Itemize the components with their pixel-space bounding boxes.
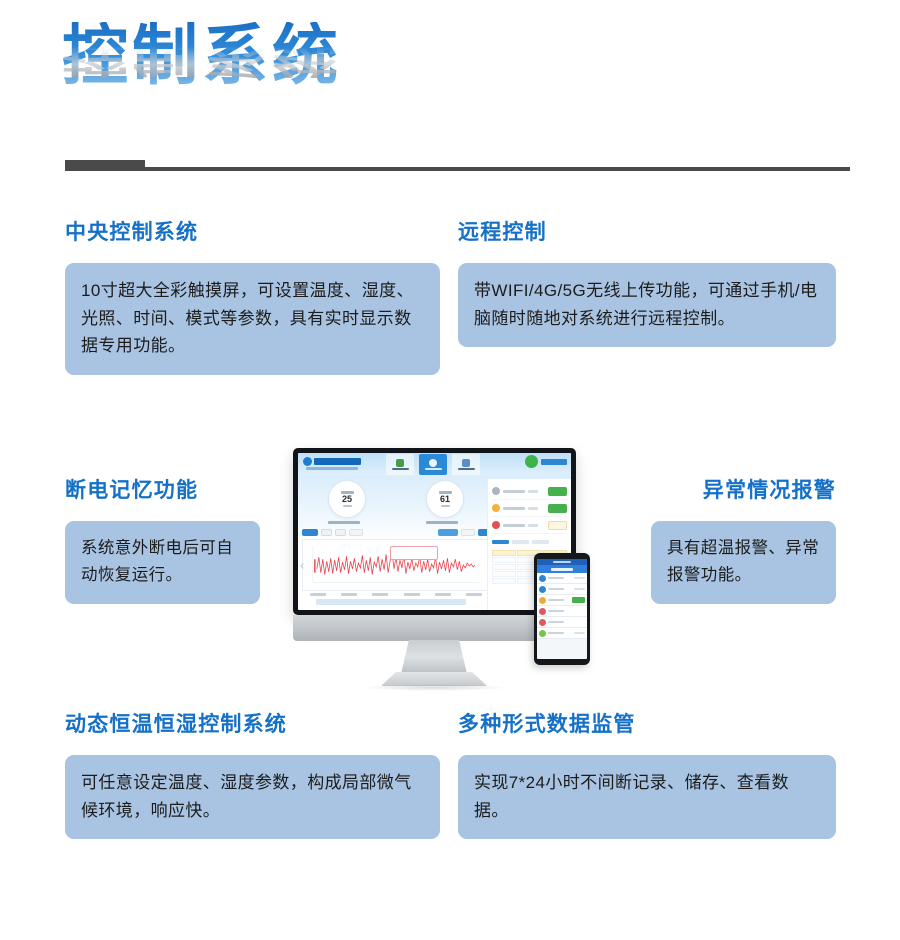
feature-description-box: 具有超温报警、异常报警功能。 (651, 521, 836, 603)
gauge-humidity: 61 (426, 480, 464, 524)
table-cell (492, 571, 516, 577)
feature-power-failure-memory: 断电记忆功能 系统意外断电后可自动恢复运行。 (65, 478, 260, 604)
chart-export-button[interactable] (438, 529, 458, 536)
gauge-value: 61 (440, 495, 450, 504)
gauge-caption (328, 521, 360, 524)
axis-tick-label (310, 593, 326, 596)
dashboard-header (298, 453, 571, 476)
panel-tab-item[interactable] (512, 540, 529, 544)
page-title-reflection: 控制系统 (62, 44, 482, 78)
control-label (503, 524, 525, 527)
chart-x-axis (302, 593, 490, 596)
control-value (528, 490, 538, 493)
feature-heading: 远程控制 (458, 220, 836, 245)
dashboard-user-area[interactable] (525, 455, 567, 468)
cloud-icon (462, 459, 470, 467)
feature-abnormal-alarm: 异常情况报警 具有超温报警、异常报警功能。 (651, 478, 836, 604)
alarm-icon (539, 619, 546, 626)
chart-date-to-input[interactable] (335, 529, 346, 536)
list-item[interactable] (537, 617, 587, 628)
control-label (503, 490, 525, 493)
monitor-screen: 25 61 (298, 453, 571, 610)
feature-heading: 动态恒温恒湿控制系统 (65, 712, 440, 737)
chart-query-button[interactable] (349, 529, 363, 536)
nav-tab-label (458, 468, 475, 471)
nav-tab-item[interactable] (452, 454, 480, 475)
list-item-label (548, 588, 564, 591)
feature-heading: 中央控制系统 (65, 220, 440, 245)
feature-heading: 断电记忆功能 (65, 478, 260, 503)
dashboard-nav-tabs[interactable] (386, 454, 480, 475)
chart-prev-icon[interactable]: ‹ (300, 559, 304, 572)
gauge-dial: 25 (328, 480, 366, 518)
panel-tab-item-active[interactable] (492, 540, 509, 544)
list-item[interactable] (537, 628, 587, 639)
smartphone (534, 553, 590, 665)
feature-remote-control: 远程控制 带WIFI/4G/5G无线上传功能，可通过手机/电脑随时随地对系统进行… (458, 220, 836, 347)
list-item[interactable] (537, 595, 587, 606)
feature-central-control-system: 中央控制系统 10寸超大全彩触摸屏，可设置温度、湿度、光照、时间、模式等参数，具… (65, 220, 440, 375)
nav-tab-item[interactable] (386, 454, 414, 475)
status-bar-text (553, 561, 571, 563)
gauge-unit (441, 505, 450, 507)
gauge-temperature: 25 (328, 480, 366, 524)
axis-tick-label (372, 593, 388, 596)
nav-tab-label (392, 468, 409, 471)
chart-range-button[interactable] (302, 529, 318, 536)
dashboard-logo (303, 457, 361, 466)
list-item[interactable] (537, 606, 587, 617)
divider-accent-block (65, 160, 145, 171)
list-item-toggle-button[interactable] (572, 597, 585, 603)
feature-description-box: 可任意设定温度、湿度参数，构成局部微气候环境，响应快。 (65, 755, 440, 839)
chart-tooltip (390, 546, 438, 560)
list-item-label (548, 599, 564, 602)
list-item-label (548, 632, 564, 635)
temperature-icon (539, 575, 546, 582)
feature-description-box: 带WIFI/4G/5G无线上传功能，可通过手机/电脑随时随地对系统进行远程控制。 (458, 263, 836, 347)
control-row-heater[interactable] (492, 517, 567, 534)
monitor-shadow (363, 684, 507, 691)
lightbulb-icon (492, 504, 500, 512)
leaf-icon (396, 459, 404, 467)
control-value (528, 524, 538, 527)
app-title (551, 568, 573, 571)
feature-description-box: 10寸超大全彩触摸屏，可设置温度、湿度、光照、时间、模式等参数，具有实时显示数据… (65, 263, 440, 375)
list-item-label (548, 610, 564, 613)
trend-chart-panel: ‹ › (302, 529, 490, 607)
hero-title-block: 控制系统 控制系统 (62, 22, 482, 152)
chart-scrollbar[interactable] (316, 599, 466, 605)
logo-wordmark (314, 458, 361, 465)
feature-description-box: 系统意外断电后可自动恢复运行。 (65, 521, 260, 603)
control-toggle-button[interactable] (548, 487, 567, 496)
logo-subtitle (306, 467, 358, 470)
panel-tab-item[interactable] (532, 540, 549, 544)
product-feature-page: 控制系统 控制系统 中央控制系统 10寸超大全彩触摸屏，可设置温度、湿度、光照、… (0, 0, 900, 940)
feature-heading: 多种形式数据监管 (458, 712, 836, 737)
table-header-cell (492, 550, 516, 556)
user-name-label (541, 459, 567, 465)
control-row-fan[interactable] (492, 483, 567, 500)
list-item-value (574, 588, 585, 591)
power-icon (539, 630, 546, 637)
control-toggle-button[interactable] (548, 521, 567, 530)
chart-plot-area: ‹ › (302, 539, 490, 591)
table-cell (492, 564, 516, 570)
list-item[interactable] (537, 584, 587, 595)
gauge-unit (343, 505, 352, 507)
gauge-caption (426, 521, 458, 524)
sensor-gauges: 25 61 (298, 479, 494, 525)
axis-tick-label (435, 593, 451, 596)
chart-view-toggle[interactable] (461, 529, 475, 536)
alarm-icon (539, 608, 546, 615)
gauge-value: 25 (342, 495, 352, 504)
feature-dynamic-temp-humidity-control: 动态恒温恒湿控制系统 可任意设定温度、湿度参数，构成局部微气候环境，响应快。 (65, 712, 440, 839)
phone-screen (537, 559, 587, 659)
logo-mark-icon (303, 457, 312, 466)
nav-tab-label (425, 468, 442, 471)
section-divider (65, 160, 850, 174)
list-item-label (548, 621, 564, 624)
list-item[interactable] (537, 573, 587, 584)
monitor-stand-neck (401, 640, 467, 674)
axis-tick-label (341, 593, 357, 596)
humidity-icon (539, 586, 546, 593)
nav-tab-item-active[interactable] (419, 454, 447, 475)
list-item-value (574, 577, 585, 580)
chart-toolbar[interactable] (302, 529, 490, 536)
control-label (503, 507, 525, 510)
phone-app-header (537, 565, 587, 573)
feature-description-box: 实现7*24小时不间断记录、储存、查看数据。 (458, 755, 836, 839)
thermometer-icon (492, 521, 500, 529)
gear-icon (429, 459, 437, 467)
table-cell (492, 578, 516, 584)
device-illustration: 25 61 (285, 440, 615, 690)
divider-line (143, 167, 850, 171)
chart-date-from-input[interactable] (321, 529, 332, 536)
gauge-dial: 61 (426, 480, 464, 518)
lightbulb-icon (539, 597, 546, 604)
table-cell (492, 557, 516, 563)
control-value (528, 507, 538, 510)
feature-heading: 异常情况报警 (651, 478, 836, 503)
panel-tab-bar[interactable] (492, 536, 567, 548)
list-item-label (548, 577, 564, 580)
avatar (525, 455, 538, 468)
axis-tick-label (466, 593, 482, 596)
feature-multi-form-data-supervision: 多种形式数据监管 实现7*24小时不间断记录、储存、查看数据。 (458, 712, 836, 839)
fan-icon (492, 487, 500, 495)
axis-tick-label (404, 593, 420, 596)
control-row-light[interactable] (492, 500, 567, 517)
list-item-value (574, 632, 585, 635)
control-toggle-button[interactable] (548, 504, 567, 513)
